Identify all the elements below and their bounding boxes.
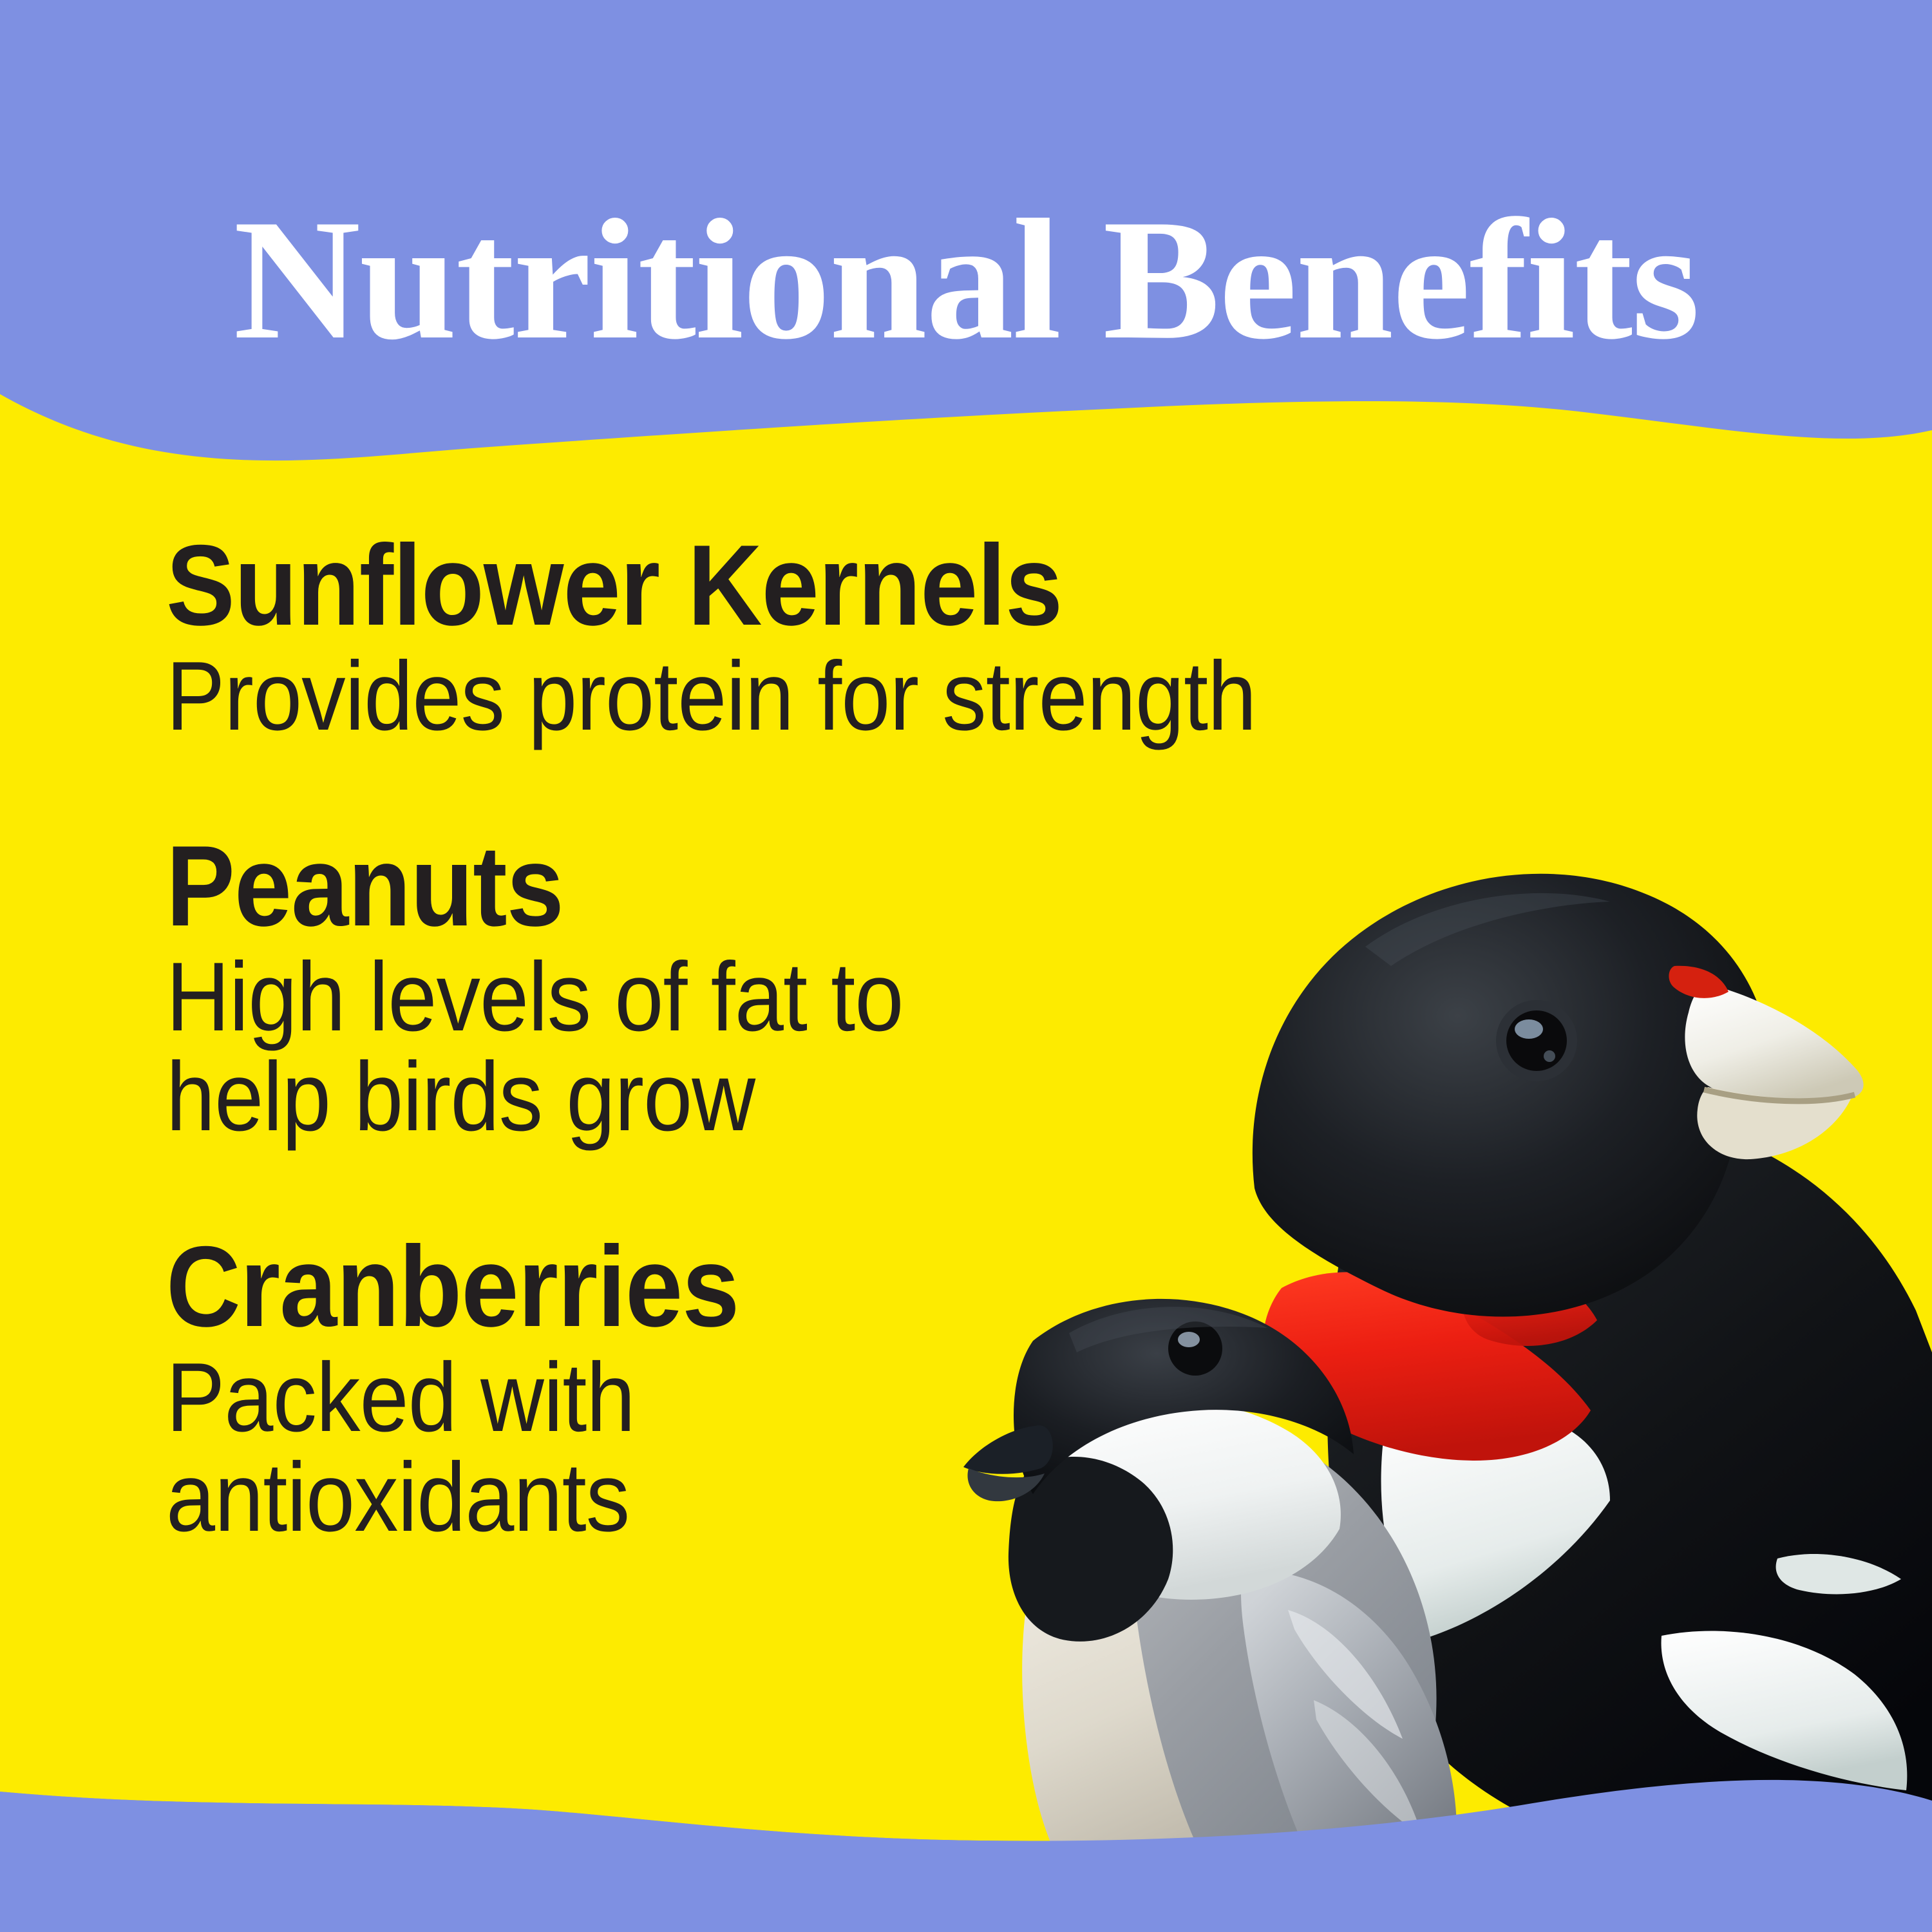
benefits-list: Sunflower Kernels Provides protein for s… [166,528,1325,1548]
benefit-item-peanuts: Peanuts High levels of fat to help birds… [166,829,1325,1147]
benefit-description: Packed with antioxidants [166,1348,1209,1548]
benefit-description-line: Provides protein for strength [166,647,1209,746]
benefit-name: Peanuts [166,829,1209,943]
benefit-description-line: Packed with [166,1348,1209,1448]
benefit-item-sunflower-kernels: Sunflower Kernels Provides protein for s… [166,528,1325,746]
benefit-description: Provides protein for strength [166,647,1209,746]
bottom-purple-wave [0,1780,1932,1932]
benefit-name: Sunflower Kernels [166,528,1209,643]
benefit-name: Cranberries [166,1229,1209,1344]
benefit-description: High levels of fat to help birds grow [166,947,1209,1147]
nutritional-benefits-poster: Nutritional Benefits Sunflower Kernels P… [0,0,1932,1932]
benefit-description-line: High levels of fat to [166,947,1209,1047]
benefit-item-cranberries: Cranberries Packed with antioxidants [166,1229,1325,1548]
benefit-description-line: antioxidants [166,1448,1209,1548]
benefit-description-line: help birds grow [166,1047,1209,1147]
page-title: Nutritional Benefits [0,193,1932,366]
